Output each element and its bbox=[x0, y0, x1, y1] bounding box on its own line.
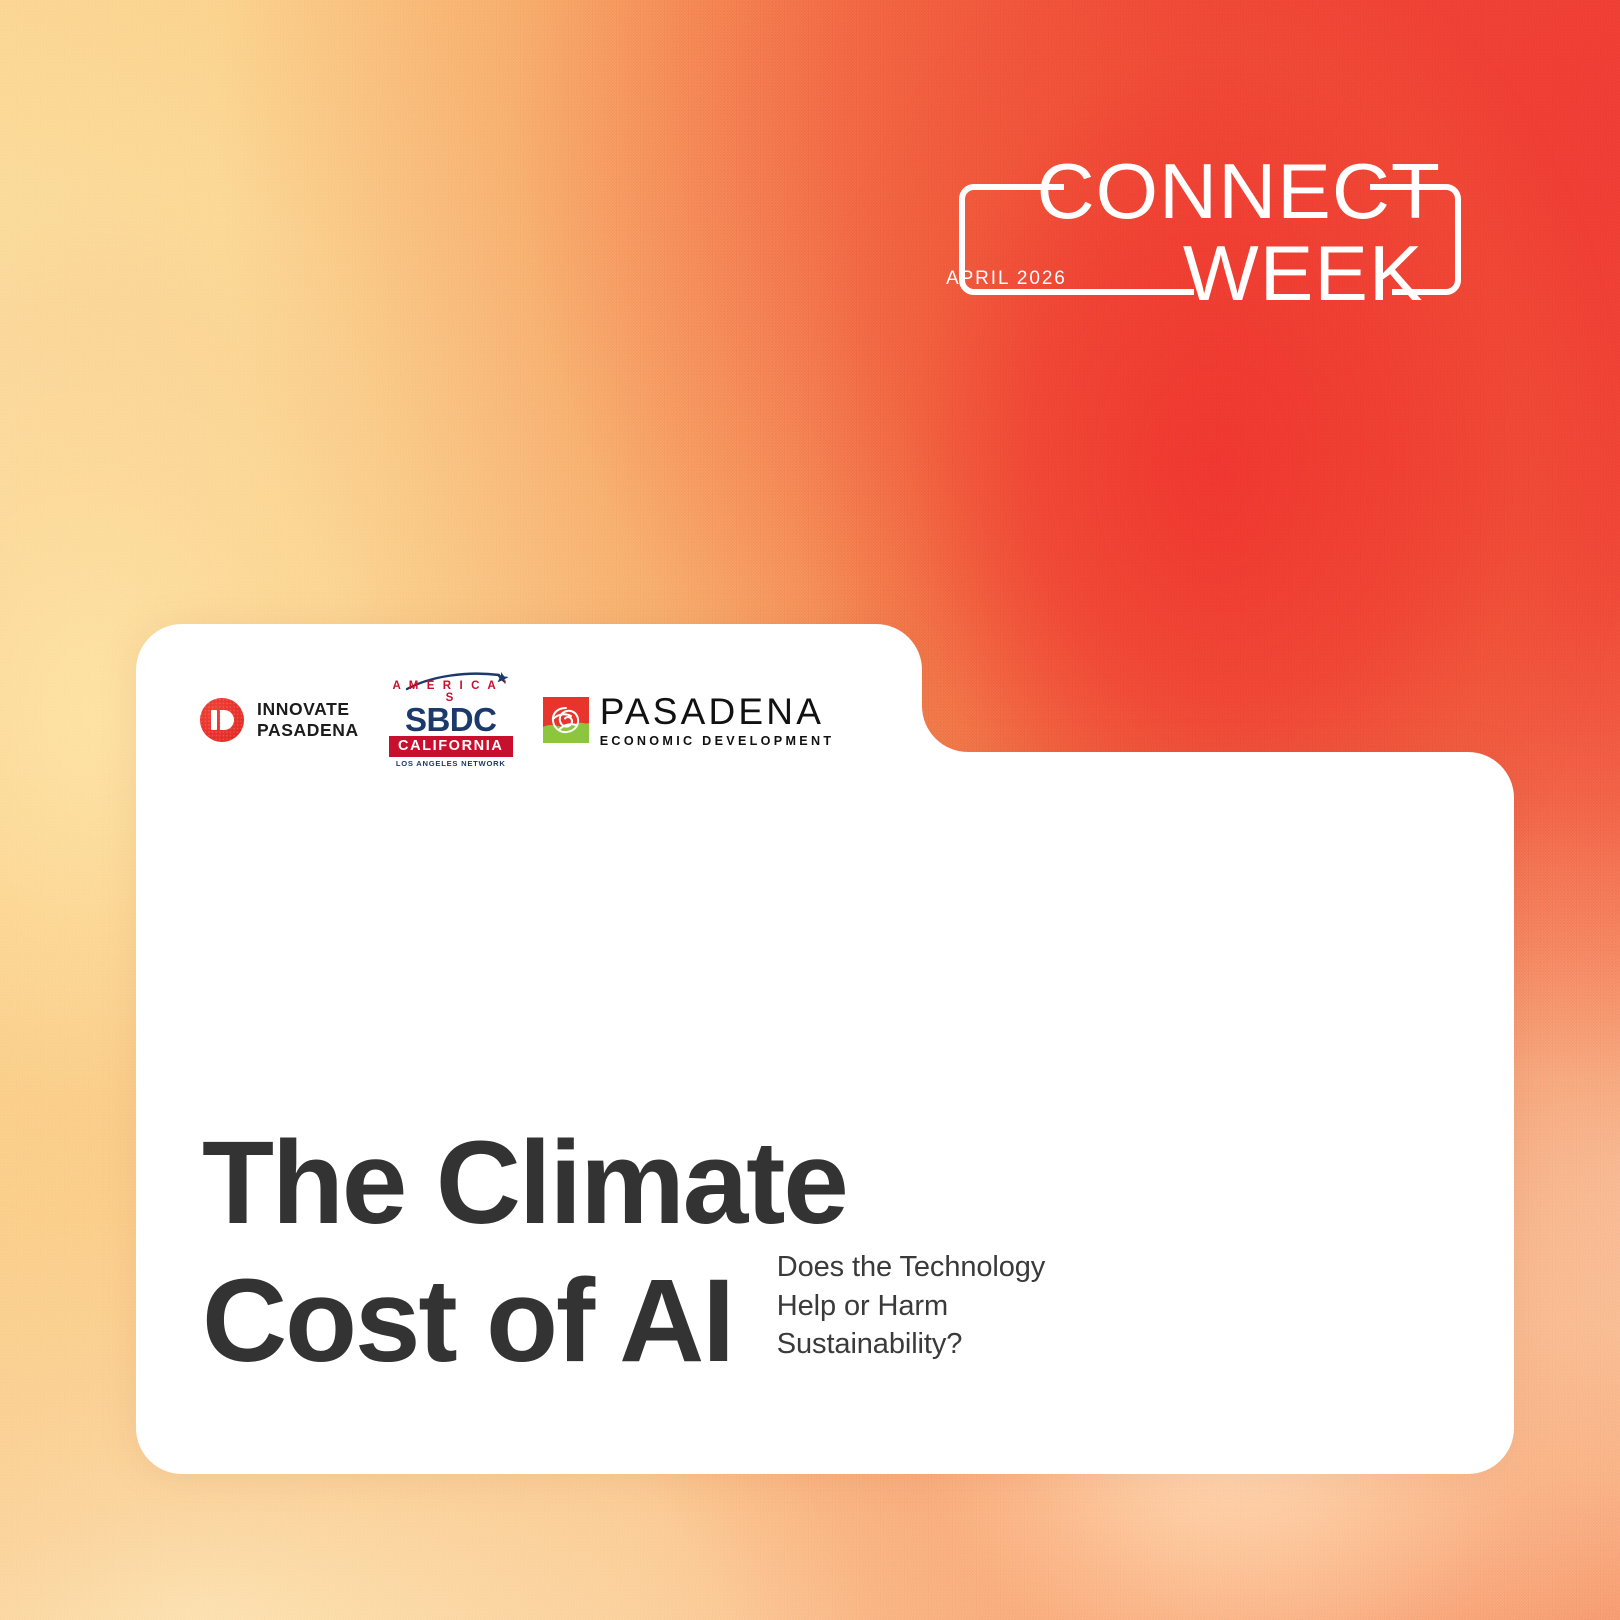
pasadena-name: PASADENA bbox=[600, 693, 835, 730]
ip-monogram-icon bbox=[200, 698, 244, 742]
sbdc-americas-text: A M E R I C A ' S bbox=[389, 681, 513, 704]
innovate-pasadena-line2: PASADENA bbox=[257, 720, 359, 741]
content-card: INNOVATE PASADENA A M E R I C A ' S SBDC… bbox=[136, 624, 1514, 1474]
sponsor-logo-innovate-pasadena: INNOVATE PASADENA bbox=[200, 698, 359, 742]
ip-halftone-dots-icon bbox=[200, 698, 244, 742]
content-card-surface: INNOVATE PASADENA A M E R I C A ' S SBDC… bbox=[136, 624, 1514, 1474]
headline-subtitle: Does the Technology Help or Harm Sustain… bbox=[777, 1248, 1045, 1386]
poster-canvas: CONNECT WEEK APRIL 2026 INNOVATE PASADEN… bbox=[0, 0, 1620, 1620]
headline-line-2: Cost of AI bbox=[202, 1257, 733, 1386]
innovate-pasadena-line1: INNOVATE bbox=[257, 699, 359, 720]
sbdc-state-banner: CALIFORNIA bbox=[389, 736, 513, 757]
event-date: APRIL 2026 bbox=[946, 268, 1067, 290]
headline-line-1: The Climate bbox=[202, 1119, 1462, 1248]
headline-row-2: Cost of AI Does the Technology Help or H… bbox=[202, 1248, 1462, 1386]
pasadena-wordmark: PASADENA ECONOMIC DEVELOPMENT bbox=[600, 693, 835, 748]
rose-icon bbox=[543, 697, 589, 743]
sponsor-logo-americas-sbdc: A M E R I C A ' S SBDC CALIFORNIA LOS AN… bbox=[389, 672, 513, 768]
connect-week-word-week: WEEK bbox=[1183, 229, 1424, 317]
sbdc-acronym: SBDC bbox=[389, 705, 513, 735]
connect-week-word-connect: CONNECT bbox=[1037, 147, 1441, 235]
sponsor-logo-pasadena-economic-development: PASADENA ECONOMIC DEVELOPMENT bbox=[543, 693, 835, 748]
sponsor-logo-row: INNOVATE PASADENA A M E R I C A ' S SBDC… bbox=[200, 672, 834, 768]
headline-block: The Climate Cost of AI Does the Technolo… bbox=[202, 1119, 1462, 1386]
sbdc-network-text: LOS ANGELES NETWORK bbox=[389, 760, 513, 768]
pasadena-subtitle: ECONOMIC DEVELOPMENT bbox=[600, 735, 835, 748]
innovate-pasadena-wordmark: INNOVATE PASADENA bbox=[257, 699, 359, 742]
